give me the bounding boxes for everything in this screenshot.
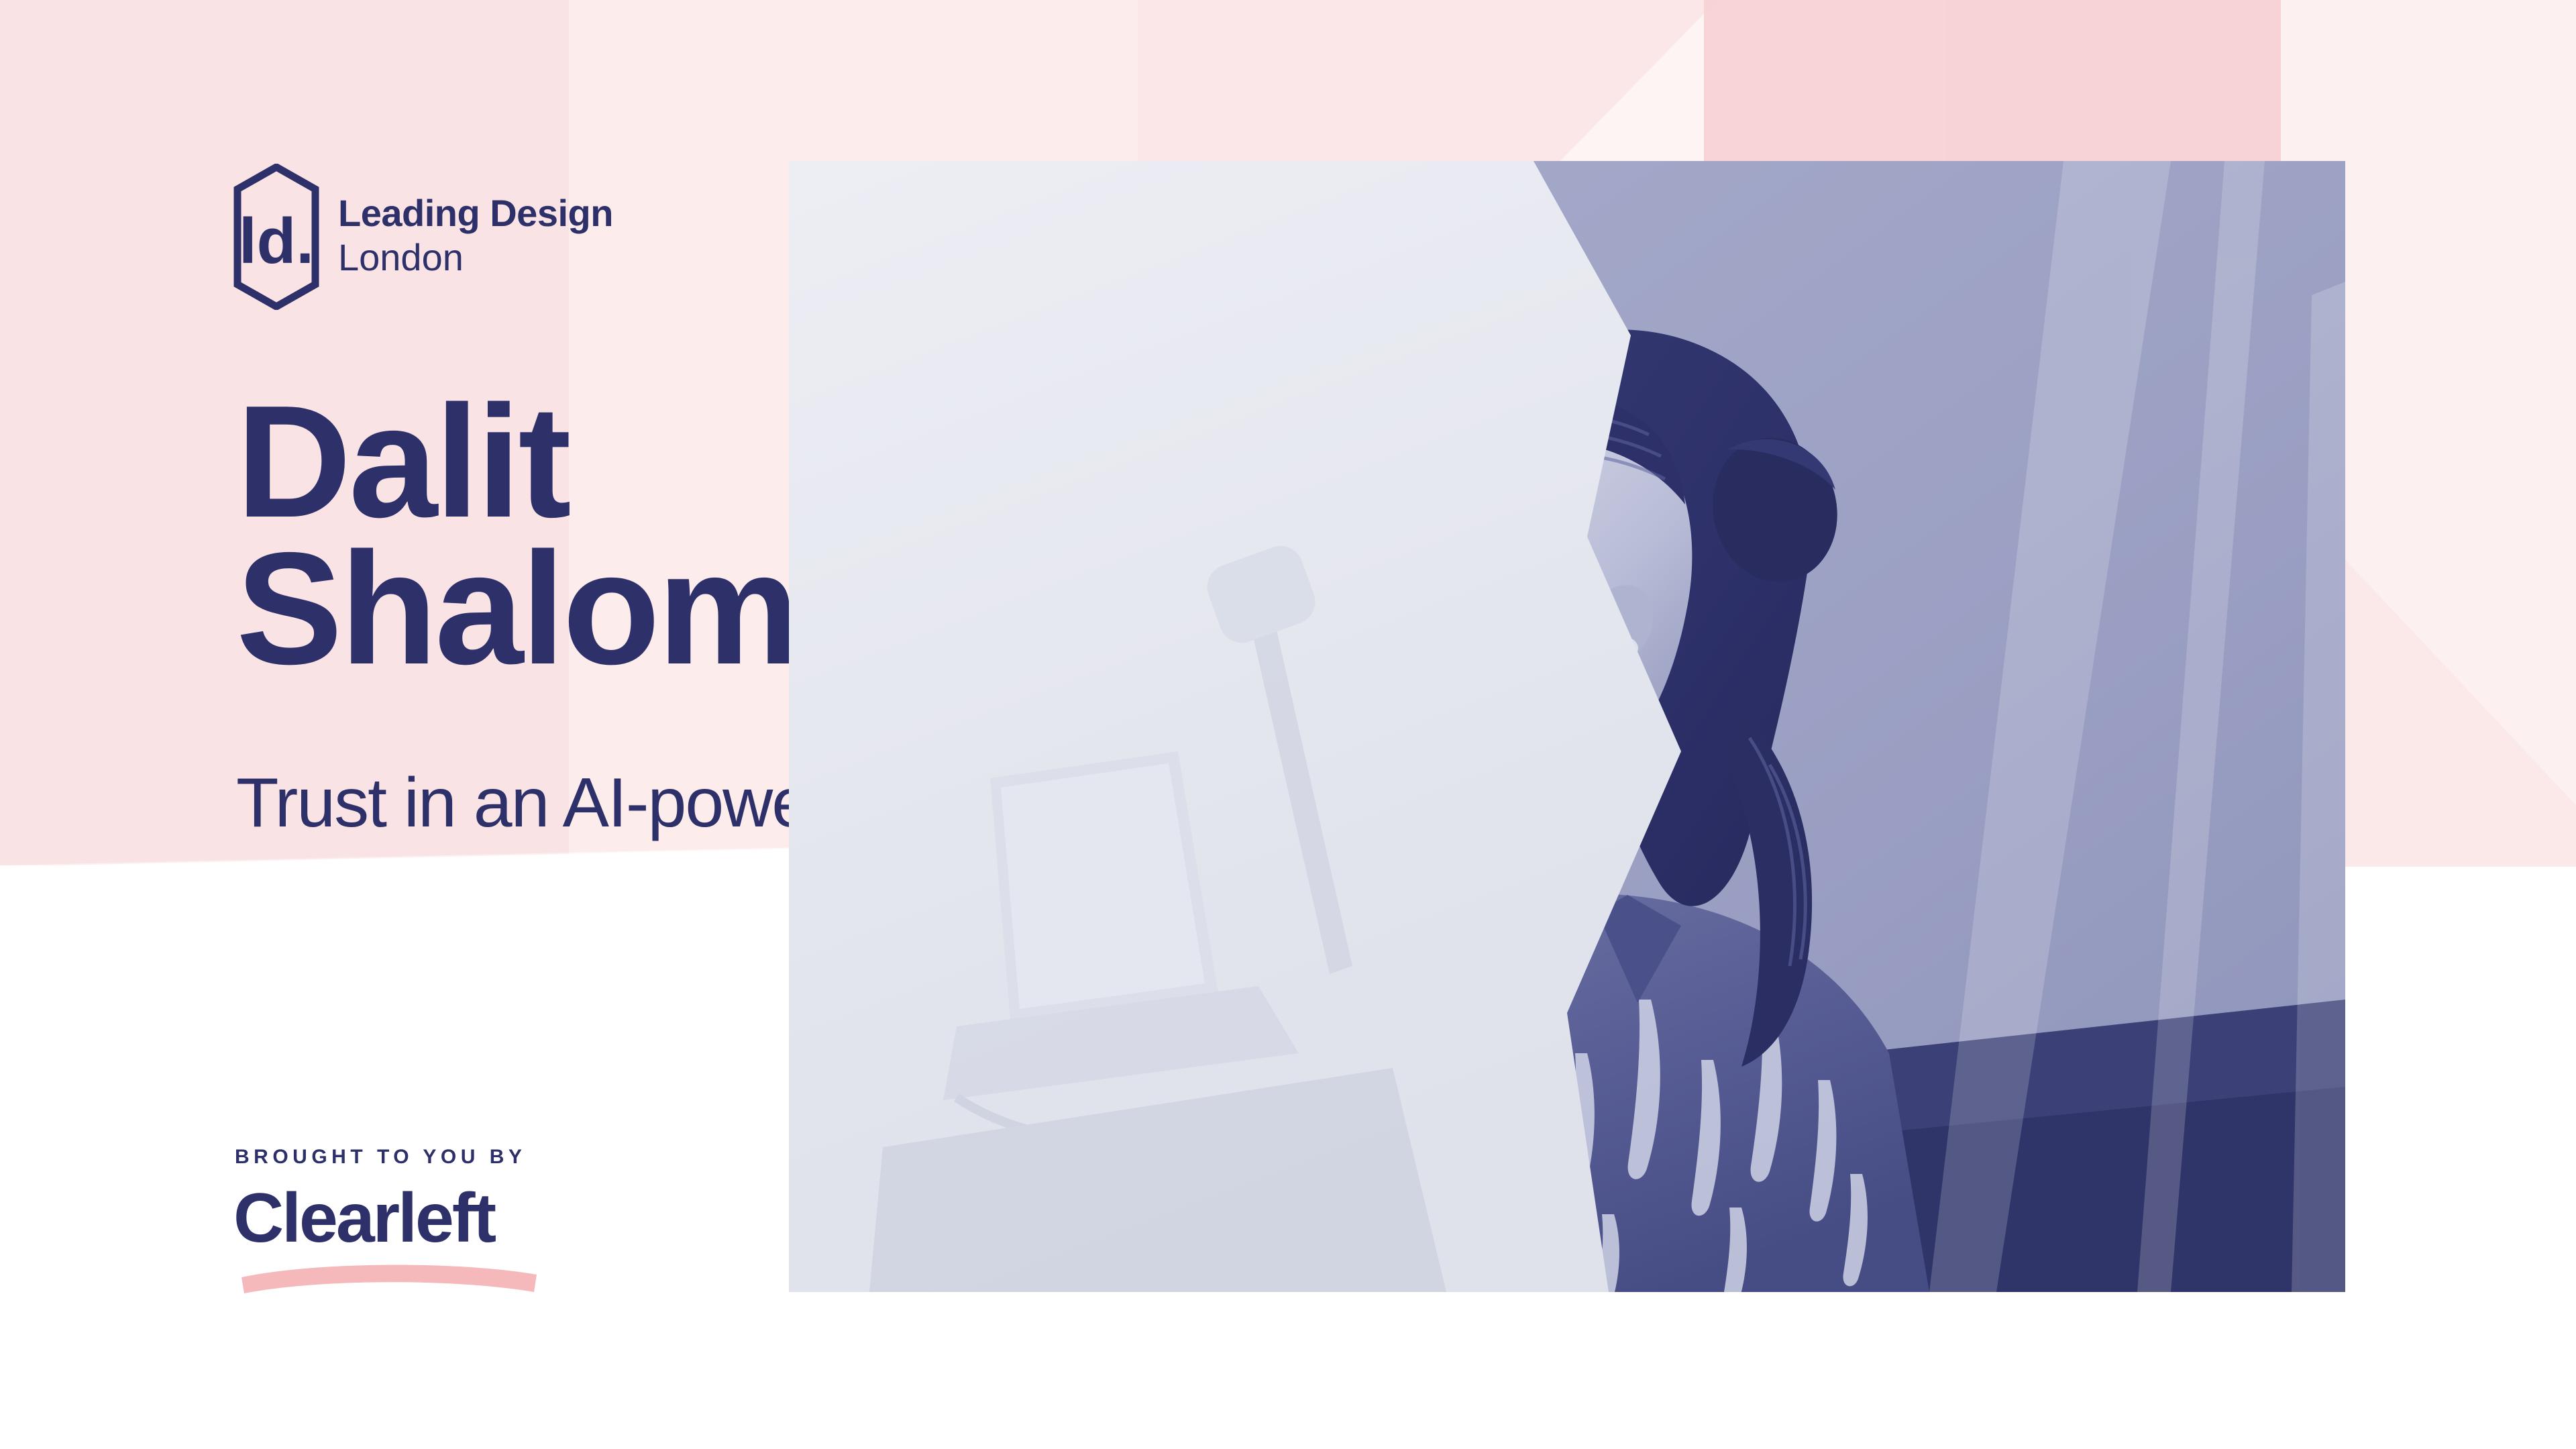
logo-wordmark: Leading Design London (338, 195, 613, 279)
sponsor-block[interactable]: BROUGHT TO YOU BY Clearleft (233, 1146, 555, 1296)
brush-underline-icon (231, 1257, 546, 1296)
logo-name-line2: London (338, 239, 613, 276)
sponsor-kicker: BROUGHT TO YOU BY (235, 1146, 555, 1169)
hexagon-logo-icon: ld. (233, 164, 319, 310)
logo-name-line1: Leading Design (338, 195, 613, 232)
logo-mark-text: ld. (239, 205, 314, 277)
speaker-photo-illustration (789, 161, 2345, 1292)
speaker-photo (789, 161, 2345, 1292)
slide-canvas: ld. Leading Design London Dalit Shalom T… (0, 0, 2576, 1449)
sponsor-name: Clearleft (233, 1183, 555, 1253)
leading-design-logo[interactable]: ld. Leading Design London (233, 164, 613, 310)
